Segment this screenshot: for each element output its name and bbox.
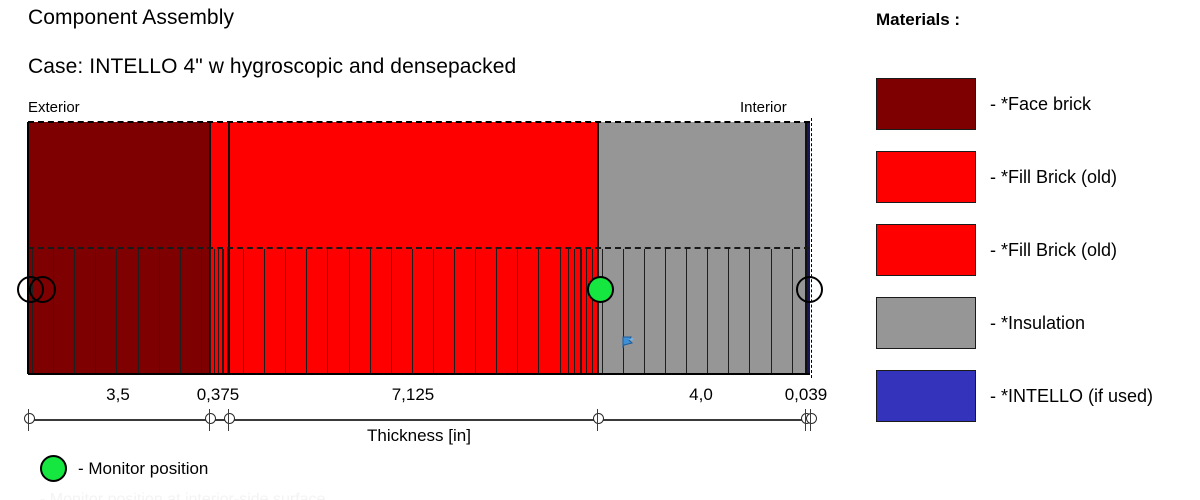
grid-tick — [370, 249, 371, 374]
grid-tick — [592, 249, 593, 374]
grid-tick — [792, 249, 793, 374]
material-legend-label: - *Insulation — [990, 313, 1085, 334]
grid-tick — [574, 249, 575, 374]
grid-tick — [454, 249, 455, 374]
case-subtitle: Case: INTELLO 4" w hygroscopic and dense… — [28, 55, 516, 79]
interior-surface-monitor[interactable] — [796, 276, 823, 303]
grid-tick — [214, 249, 215, 374]
grid-tick — [159, 249, 160, 374]
grid-tick — [32, 249, 33, 374]
color-swatch-icon — [876, 297, 976, 349]
grid-tick — [95, 249, 96, 374]
monitor-legend-label: - Monitor position — [78, 459, 208, 479]
scale-axis-title: Thickness [in] — [28, 426, 810, 446]
grid-tick — [412, 249, 413, 374]
assembly-top-edge — [28, 121, 810, 123]
grid-tick — [243, 249, 244, 374]
material-legend-label: - *Fill Brick (old) — [990, 240, 1117, 261]
grid-tick — [306, 249, 307, 374]
grid-tick — [391, 249, 392, 374]
grid-tick — [264, 249, 265, 374]
scale-value-4: 0,039 — [746, 385, 866, 405]
material-legend-label: - *Face brick — [990, 94, 1091, 115]
materials-legend: Materials : - *Face brick- *Fill Brick (… — [876, 10, 1196, 30]
grid-tick — [517, 249, 518, 374]
grid-tick — [180, 249, 181, 374]
scale-axis-line — [28, 419, 810, 421]
material-legend-item[interactable]: - *Fill Brick (old) — [876, 151, 1117, 203]
grid-tick — [223, 249, 224, 374]
green-circle-icon — [40, 455, 67, 482]
grid-tick — [475, 249, 476, 374]
grid-tick — [728, 249, 729, 374]
component-assembly-diagram: Component Assembly Case: INTELLO 4" w hy… — [0, 0, 1200, 500]
material-legend-label: - *Fill Brick (old) — [990, 167, 1117, 188]
material-legend-item[interactable]: - *Insulation — [876, 297, 1085, 349]
exterior-label: Exterior — [28, 99, 80, 116]
scale-tick-5 — [810, 409, 811, 431]
grid-tick — [210, 249, 211, 374]
mid-wall-monitor[interactable] — [587, 276, 614, 303]
grid-tick — [560, 249, 561, 374]
grid-tick — [116, 249, 117, 374]
grid-tick — [623, 249, 624, 374]
grid-top-divider — [28, 247, 810, 249]
grid-tick — [227, 249, 228, 374]
material-legend-item[interactable]: - *Face brick — [876, 78, 1091, 130]
monitor-grid — [28, 247, 810, 374]
monitor-position-legend: - Monitor position — [40, 455, 208, 482]
grid-tick — [74, 249, 75, 374]
scale-node-2 — [224, 413, 235, 424]
color-swatch-icon — [876, 151, 976, 203]
grid-tick — [218, 249, 219, 374]
grid-tick — [538, 249, 539, 374]
scale-node-0 — [24, 413, 35, 424]
grid-tick — [349, 249, 350, 374]
grid-tick — [644, 249, 645, 374]
grid-tick — [568, 249, 569, 374]
scale-value-3: 4,0 — [641, 385, 761, 405]
cutoff-legend-row: - Monitor position at interior-side surf… — [40, 491, 325, 500]
color-swatch-icon — [876, 224, 976, 276]
blue-flag-icon — [620, 334, 638, 350]
material-legend-label: - *INTELLO (if used) — [990, 386, 1153, 407]
scale-node-5 — [806, 413, 817, 424]
grid-tick — [665, 249, 666, 374]
grid-tick — [285, 249, 286, 374]
grid-tick — [602, 249, 603, 374]
material-legend-item[interactable]: - *INTELLO (if used) — [876, 370, 1153, 422]
scale-value-2: 7,125 — [353, 385, 473, 405]
material-legend-item[interactable]: - *Fill Brick (old) — [876, 224, 1117, 276]
grid-tick — [433, 249, 434, 374]
scale-node-3 — [593, 413, 604, 424]
scale-value-1: 0,375 — [158, 385, 278, 405]
assembly-right-edge — [811, 118, 812, 378]
grid-tick — [201, 249, 202, 374]
thickness-scale: 3,50,3757,1254,00,039 Thickness [in] — [0, 385, 860, 445]
color-swatch-icon — [876, 370, 976, 422]
grid-tick — [749, 249, 750, 374]
scale-node-1 — [205, 413, 216, 424]
materials-legend-title: Materials : — [876, 10, 1196, 30]
grid-tick — [53, 249, 54, 374]
assembly-left-edge — [27, 122, 29, 374]
grid-tick — [496, 249, 497, 374]
grid-tick — [771, 249, 772, 374]
wall-assembly — [28, 122, 810, 374]
assembly-bottom-edge — [28, 373, 810, 375]
page-title: Component Assembly — [28, 6, 234, 30]
grid-tick — [598, 249, 599, 374]
exterior-offset-monitor[interactable] — [29, 276, 56, 303]
grid-tick — [686, 249, 687, 374]
grid-tick — [580, 249, 581, 374]
grid-tick — [707, 249, 708, 374]
grid-tick — [586, 249, 587, 374]
color-swatch-icon — [876, 78, 976, 130]
grid-tick — [327, 249, 328, 374]
interior-label: Interior — [740, 99, 787, 116]
grid-tick — [138, 249, 139, 374]
